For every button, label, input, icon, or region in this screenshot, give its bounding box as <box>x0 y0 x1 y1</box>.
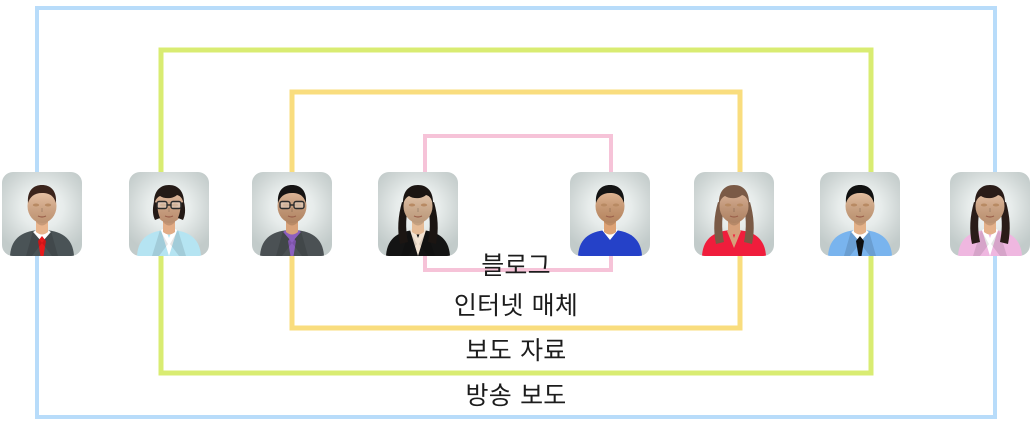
ring-label-internet-media: 인터넷 매체 <box>0 292 1032 320</box>
ring-label-blog: 블로그 <box>0 252 1032 280</box>
person-woman-pink-cardigan[interactable] <box>950 172 1030 256</box>
person-woman-glasses-light-blue-jacket[interactable] <box>129 172 209 256</box>
avatar-glasses-lens-right <box>294 202 304 209</box>
avatar-illustration <box>950 172 1030 256</box>
avatar-eye-right <box>45 204 51 207</box>
avatar-glasses-lens-right <box>171 202 181 209</box>
avatar-illustration <box>2 172 82 256</box>
avatar-illustration <box>252 172 332 256</box>
ring-label-press-release: 보도 자료 <box>0 337 1032 365</box>
avatar-eye-right <box>613 204 619 207</box>
avatar-eye-right <box>993 204 999 207</box>
avatar-illustration <box>694 172 774 256</box>
ring-label-broadcast: 방송 보도 <box>0 382 1032 410</box>
avatar-glasses-lens-left <box>157 202 167 209</box>
avatar-eye-right <box>421 204 427 207</box>
avatar-illustration <box>820 172 900 256</box>
avatar-eye-left <box>409 204 415 207</box>
person-man-light-blue-suit-black-tie[interactable] <box>820 172 900 256</box>
avatar-illustration <box>378 172 458 256</box>
diagram-canvas: 방송 보도보도 자료인터넷 매체블로그 <box>0 0 1032 434</box>
person-man-blue-polo-shirt[interactable] <box>570 172 650 256</box>
person-man-glasses-purple-striped-tie[interactable] <box>252 172 332 256</box>
avatar-eye-left <box>601 204 607 207</box>
avatar-eye-left <box>33 204 39 207</box>
avatar-eye-left <box>725 204 731 207</box>
avatar-eye-left <box>981 204 987 207</box>
avatar-eye-right <box>737 204 743 207</box>
avatar-illustration <box>129 172 209 256</box>
avatar-eye-left <box>851 204 857 207</box>
person-woman-red-top-long-hair[interactable] <box>694 172 774 256</box>
avatar-eye-right <box>863 204 869 207</box>
person-woman-black-blazer[interactable] <box>378 172 458 256</box>
avatar-illustration <box>570 172 650 256</box>
person-man-dark-suit-red-tie[interactable] <box>2 172 82 256</box>
avatar-glasses-lens-left <box>280 202 290 209</box>
